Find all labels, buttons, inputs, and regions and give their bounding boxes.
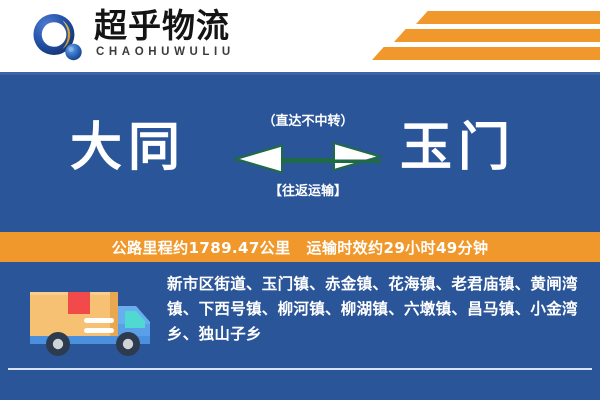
header: 超乎物流 CHAOHUWULIU: [0, 0, 600, 72]
circle-crescent-logo-icon: [32, 12, 88, 64]
panel-divider: [8, 368, 592, 370]
route-panel: 大同 （直达不中转） 【往返运输】 玉门: [0, 72, 600, 230]
distance-text: 公路里程约1789.47公里: [112, 237, 291, 258]
destination-city: 玉门: [400, 112, 516, 184]
origin-city: 大同: [70, 112, 186, 184]
brand-logo: 超乎物流 CHAOHUWULIU: [32, 8, 294, 66]
info-bar-text: 公路里程约1789.47公里 运输时效约29小时49分钟: [0, 230, 600, 264]
direct-note: （直达不中转）: [228, 110, 388, 129]
stripe-2: [394, 29, 600, 42]
orange-speed-stripes-icon: [338, 8, 600, 66]
destination-panel: 新市区街道、玉门镇、赤金镇、花海镇、老君庙镇、黄闸湾镇、下西号镇、柳河镇、柳湖镇…: [0, 264, 600, 400]
route-arrow-group: （直达不中转） 【往返运输】: [228, 92, 388, 212]
brand-name-en: CHAOHUWULIU: [96, 46, 235, 58]
panel-top-edge: [0, 72, 600, 75]
double-headed-arrow-icon: [230, 136, 386, 181]
stripe-3: [372, 47, 600, 60]
stripe-1: [416, 11, 600, 24]
brand-logo-text: 超乎物流 CHAOHUWULIU: [94, 8, 294, 66]
delivery-truck-icon: [24, 276, 156, 362]
roundtrip-note: 【往返运输】: [228, 180, 388, 199]
logistics-route-poster: 超乎物流 CHAOHUWULIU 大同 （直达不中转） 【往返运输】: [0, 0, 600, 400]
info-bar: 公路里程约1789.47公里 运输时效约29小时49分钟: [0, 230, 600, 264]
destination-list-text: 新市区街道、玉门镇、赤金镇、花海镇、老君庙镇、黄闸湾镇、下西号镇、柳河镇、柳湖镇…: [167, 272, 587, 347]
brand-name-cn: 超乎物流: [94, 6, 230, 46]
duration-text: 运输时效约29小时49分钟: [306, 237, 488, 258]
